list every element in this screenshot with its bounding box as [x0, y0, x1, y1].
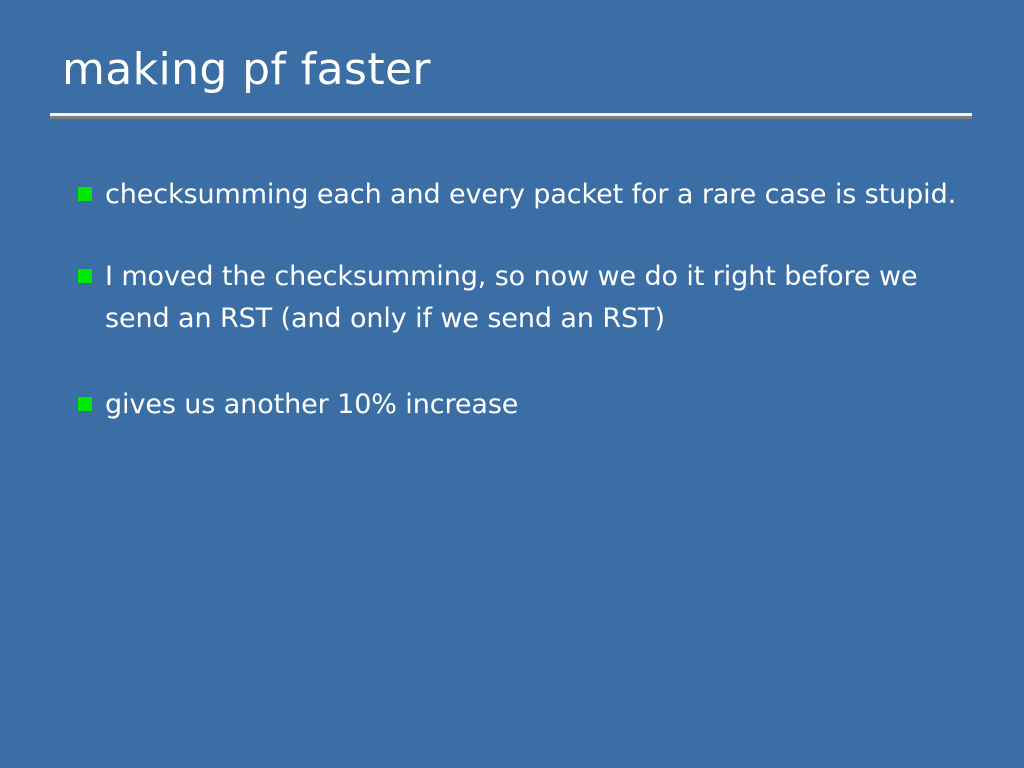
list-item-label: I moved the checksumming, so now we do i…	[105, 256, 958, 340]
list-item-label: gives us another 10% increase	[105, 384, 958, 426]
green-square-bullet-icon	[78, 187, 92, 201]
list-item: I moved the checksumming, so now we do i…	[78, 256, 958, 340]
green-square-bullet-icon	[78, 269, 92, 283]
presentation-slide: making pf faster checksumming each and e…	[0, 0, 1024, 768]
green-square-bullet-icon	[78, 397, 92, 411]
title-block: making pf faster	[50, 48, 974, 92]
list-item: checksumming each and every packet for a…	[78, 174, 958, 216]
bullet-list: checksumming each and every packet for a…	[78, 174, 958, 426]
title-underline-rule	[50, 113, 972, 119]
list-item-label: checksumming each and every packet for a…	[105, 174, 958, 216]
list-item: gives us another 10% increase	[78, 384, 958, 426]
page-title: making pf faster	[50, 48, 974, 92]
title-rule-dark-line	[50, 116, 972, 119]
